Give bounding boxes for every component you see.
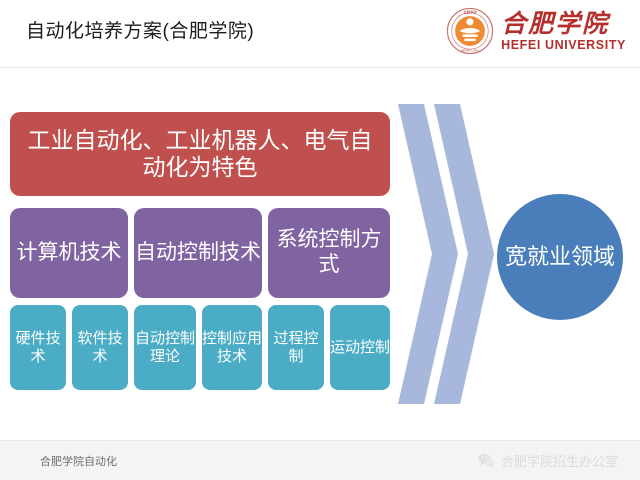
svg-text:合肥学院: 合肥学院 (463, 10, 477, 15)
leaf-box-control-application-technology: 控制应用技术 (202, 305, 262, 390)
outcome-circle-broad-employment: 宽就业领域 (497, 194, 623, 320)
page-header: 自动化培养方案(合肥学院) 合肥学院 HEFEI UNIV 合肥学院 HEFEI… (0, 0, 640, 68)
leaf-box-software-technology: 软件技术 (72, 305, 128, 390)
leaf-box-hardware-technology: 硬件技术 (10, 305, 66, 390)
svg-text:HEFEI UNIV: HEFEI UNIV (461, 49, 480, 53)
page-footer: 合肥学院自动化 合肥学院招生办公室 (0, 440, 640, 480)
leaf-box-automatic-control-theory: 自动控制理论 (134, 305, 196, 390)
pillar-box-automatic-control-technology: 自动控制技术 (134, 208, 262, 298)
wechat-watermark: 合肥学院招生办公室 (478, 451, 618, 470)
leaf-box-process-control: 过程控制 (268, 305, 324, 390)
hefei-university-emblem-icon: 合肥学院 HEFEI UNIV (446, 7, 494, 55)
pillar-box-computer-technology: 计算机技术 (10, 208, 128, 298)
feature-banner: 工业自动化、工业机器人、电气自动化为特色 (10, 112, 390, 196)
footer-caption: 合肥学院自动化 (40, 453, 117, 469)
double-chevron-right-icon (396, 104, 506, 404)
university-name-cn: 合肥学院 (501, 11, 626, 36)
wechat-icon (478, 453, 495, 468)
page-title: 自动化培养方案(合肥学院) (26, 16, 254, 43)
slide-canvas: 工业自动化、工业机器人、电气自动化为特色 计算机技术 自动控制技术 系统控制方式… (0, 68, 640, 440)
leaf-box-motion-control: 运动控制 (330, 305, 390, 390)
university-name-en: HEFEI UNIVERSITY (501, 39, 626, 52)
university-logo: 合肥学院 HEFEI UNIV 合肥学院 HEFEI UNIVERSITY (446, 5, 626, 57)
wechat-watermark-label: 合肥学院招生办公室 (501, 451, 618, 470)
pillar-box-system-control-method: 系统控制方式 (268, 208, 390, 298)
university-name-block: 合肥学院 HEFEI UNIVERSITY (501, 11, 626, 52)
